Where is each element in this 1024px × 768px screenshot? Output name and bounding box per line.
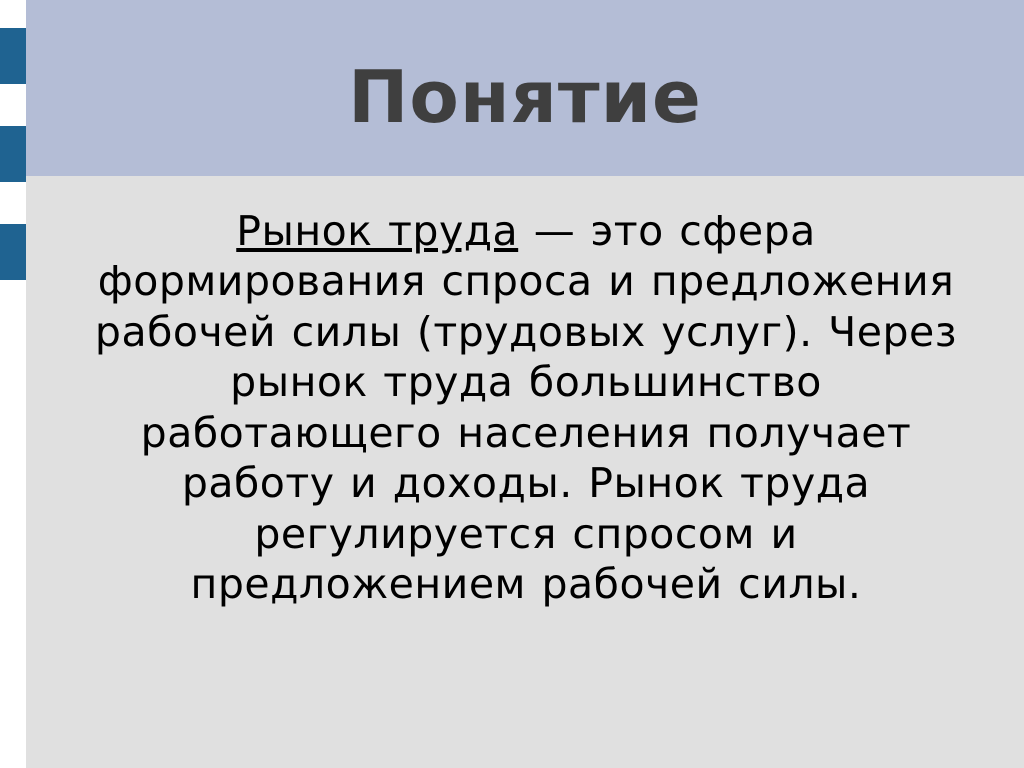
definition-term: Рынок труда [236,207,518,255]
slide-body-text: Рынок труда — это сфера формирования спр… [86,206,966,609]
left-decorative-rail [0,0,26,768]
rail-accent-block-2 [0,126,26,182]
slide-title: Понятие [26,0,1024,176]
rail-accent-block-3 [0,224,26,280]
definition-body: — это сфера формирования спроса и предло… [95,207,957,608]
presentation-slide: Понятие Рынок труда — это сфера формиров… [0,0,1024,768]
rail-accent-block-1 [0,28,26,84]
